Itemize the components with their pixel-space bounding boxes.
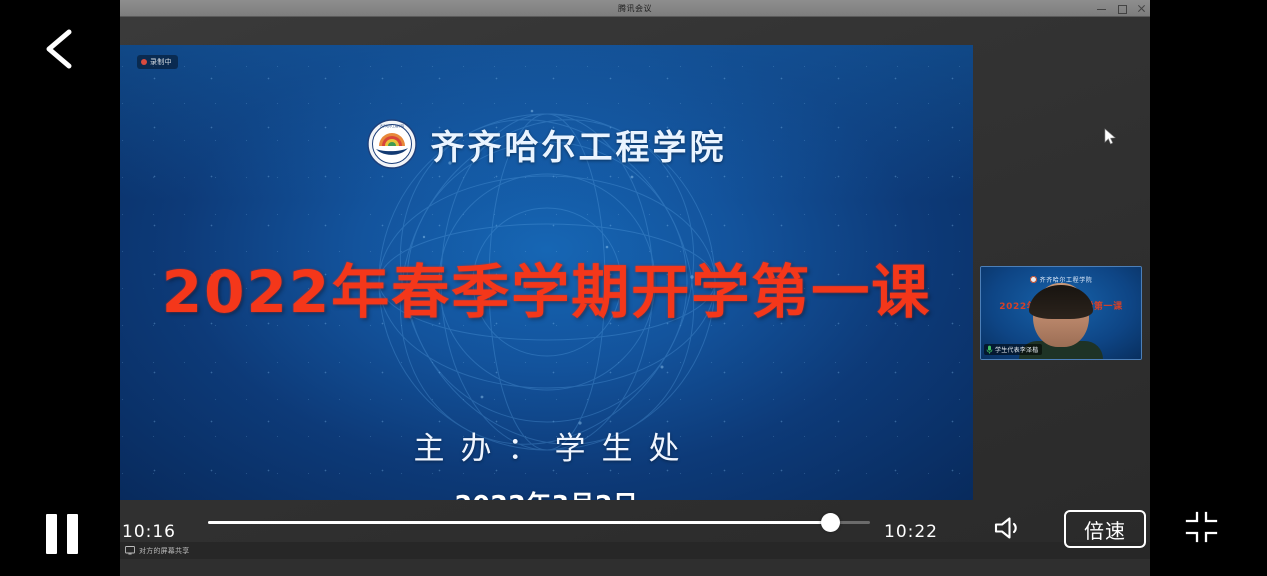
playback-speed-label: 倍速	[1084, 515, 1126, 544]
shared-slide[interactable]: 录制中 齐齐哈尔工程学院 齐齐哈尔工	[120, 45, 973, 500]
participant-hair	[1029, 285, 1093, 319]
slide-date: 2022年3月2日	[120, 485, 973, 500]
slide-university-name: 齐齐哈尔工程学院	[431, 120, 727, 169]
participant-thumbnail[interactable]: 齐齐哈尔工程学院 2022年春季学期开学第一课 学生代表李泽楷	[980, 266, 1142, 360]
current-time: 10:16	[122, 522, 176, 542]
maximize-button[interactable]	[1117, 4, 1126, 13]
slide-university-row: 齐齐哈尔工程学院 齐齐哈尔工程学院	[120, 119, 973, 169]
participant-logo-icon	[1030, 276, 1037, 283]
recording-badge: 录制中	[137, 55, 178, 69]
mouse-pointer-icon	[1104, 128, 1117, 146]
total-time: 10:22	[884, 522, 938, 542]
window-titlebar: 腾讯会议	[120, 0, 1150, 17]
playback-speed-button[interactable]: 倍速	[1064, 510, 1146, 548]
recording-label: 录制中	[150, 57, 172, 67]
slide-organizer: 主办：学生处	[120, 423, 973, 468]
pause-button[interactable]	[46, 514, 80, 554]
window-title: 腾讯会议	[618, 3, 652, 14]
svg-text:齐齐哈尔工程学院: 齐齐哈尔工程学院	[379, 123, 403, 128]
chevron-left-icon	[38, 26, 84, 72]
screen-share-icon	[125, 546, 135, 555]
seek-progress-fill	[208, 521, 830, 524]
window-controls	[1097, 0, 1146, 17]
seek-bar[interactable]	[208, 513, 870, 533]
share-status-text: 对方的屏幕共享	[139, 546, 189, 556]
meeting-window: 腾讯会议	[120, 0, 1150, 576]
seek-thumb[interactable]	[821, 513, 840, 532]
volume-button[interactable]	[993, 515, 1025, 541]
close-button[interactable]	[1137, 4, 1146, 13]
screen: 腾讯会议	[0, 0, 1267, 576]
exit-fullscreen-icon	[1184, 511, 1219, 543]
pause-icon	[46, 514, 57, 554]
slide-main-title: 2022年春季学期开学第一课	[120, 245, 973, 329]
participant-name-tag: 学生代表李泽楷	[984, 344, 1042, 355]
microphone-icon	[986, 345, 993, 354]
share-status-bar: 对方的屏幕共享	[120, 542, 1150, 559]
meeting-body: 录制中 齐齐哈尔工程学院 齐齐哈尔工	[120, 17, 1150, 559]
university-logo-icon: 齐齐哈尔工程学院	[367, 119, 417, 169]
record-dot-icon	[141, 59, 147, 65]
exit-fullscreen-button[interactable]	[1184, 511, 1219, 543]
volume-icon	[993, 515, 1025, 541]
back-button[interactable]	[38, 26, 84, 72]
minimize-button[interactable]	[1097, 4, 1106, 13]
player-left-rail	[0, 0, 120, 576]
participant-name: 学生代表李泽楷	[995, 345, 1038, 354]
